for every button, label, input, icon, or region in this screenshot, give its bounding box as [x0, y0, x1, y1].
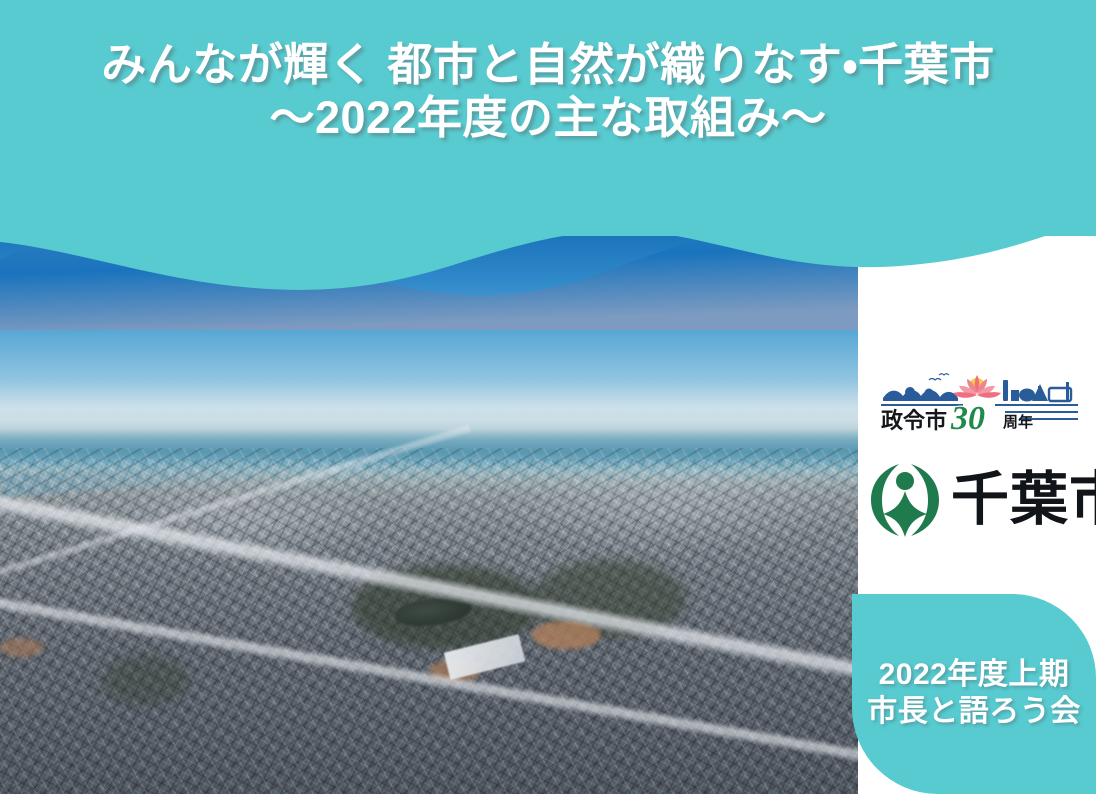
badge-line-2: 市長と語ろう会 [867, 694, 1081, 731]
city-logo-wordmark: 千葉市 [951, 471, 1096, 529]
anniversary-text-left: 政令市 [881, 408, 947, 433]
anniversary-logo: 政令市 30 周年 [877, 368, 1082, 434]
anniversary-number: 30 [950, 400, 985, 434]
anniversary-text-right: 周年 [1003, 413, 1033, 431]
chiba-city-emblem-icon [869, 460, 941, 540]
aerial-photo [0, 236, 858, 794]
badge-line-1: 2022年度上期 [879, 657, 1070, 694]
aerial-photo-image [0, 236, 858, 794]
presentation-slide: 政令市 30 周年 千葉市 [0, 0, 1096, 794]
event-badge: 2022年度上期 市長と語ろう会 [852, 594, 1096, 794]
photo-grain-overlay [0, 236, 858, 794]
city-logo: 千葉市 [869, 455, 1084, 545]
